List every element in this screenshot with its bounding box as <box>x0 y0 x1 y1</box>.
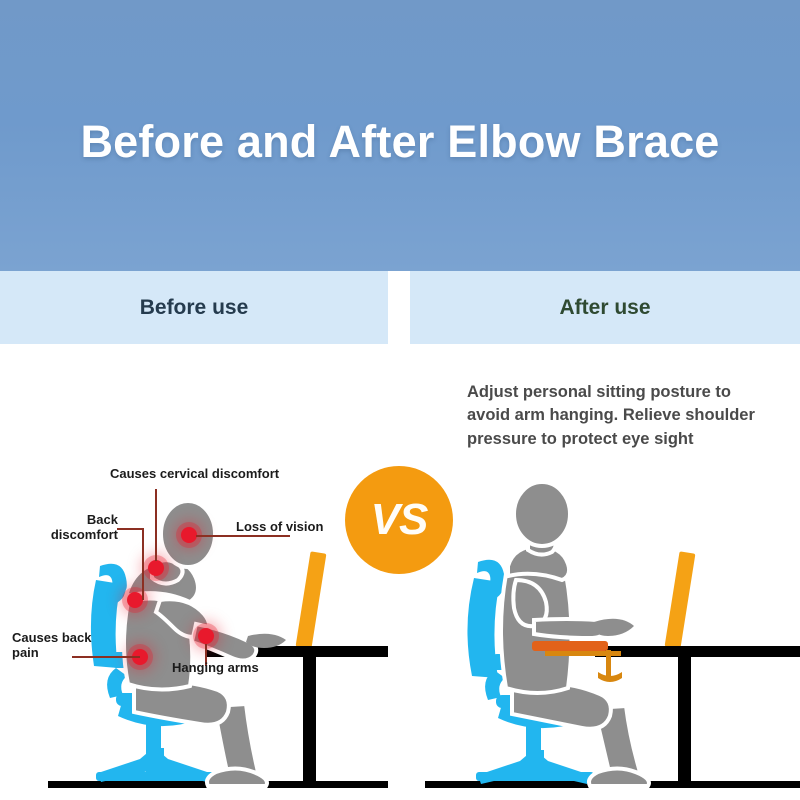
leader-cervical <box>155 489 157 561</box>
annotation-causes-back-pain: Causes back pain <box>12 630 92 660</box>
infographic-root: Before and After Elbow Brace Before use … <box>0 0 800 800</box>
vs-badge: VS <box>345 466 453 574</box>
leader-back-discomfort-h <box>117 528 144 530</box>
monitor-icon <box>665 551 696 648</box>
vs-label: VS <box>345 466 453 574</box>
annotation-loss-of-vision: Loss of vision <box>236 519 323 534</box>
pain-dot-hanging-arms <box>198 628 214 644</box>
seated-person <box>501 482 649 786</box>
pain-dot-back-discomfort <box>127 592 143 608</box>
leader-back-discomfort-v <box>142 528 144 600</box>
pain-dot-cervical <box>148 560 164 576</box>
annotation-cervical: Causes cervical discomfort <box>110 466 279 481</box>
illustration-layer <box>0 0 800 800</box>
pain-dot-vision <box>181 527 197 543</box>
annotation-back-discomfort: Back discomfort <box>34 512 118 542</box>
annotation-hanging-arms: Hanging arms <box>172 660 259 675</box>
leader-loss-of-vision <box>196 535 290 537</box>
monitor-icon <box>296 551 327 648</box>
before-use-illustration <box>48 501 395 788</box>
after-use-illustration <box>425 482 800 788</box>
